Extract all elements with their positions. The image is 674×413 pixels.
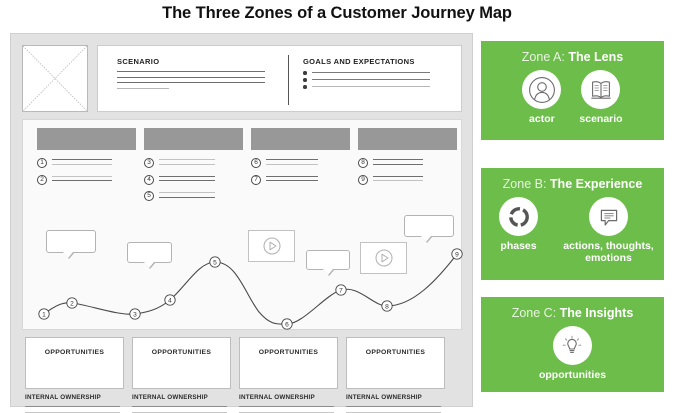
play-button-icon [374, 248, 394, 268]
item-lines [266, 158, 318, 168]
ownership-label: INTERNAL OWNERSHIP [25, 394, 124, 401]
phase-bar-1[interactable] [37, 128, 136, 150]
cycle-arrows-icon [499, 197, 538, 236]
ownership-line [239, 406, 334, 407]
zone-a-prefix: Zone A: [522, 50, 569, 64]
ownership-label: INTERNAL OWNERSHIP [132, 394, 231, 401]
ownership-label: INTERNAL OWNERSHIP [346, 394, 445, 401]
journey-map-infographic: The Three Zones of a Customer Journey Ma… [0, 0, 674, 413]
phase-bar-3[interactable] [251, 128, 350, 150]
zone-c-item-opportunities[interactable]: opportunities [539, 326, 606, 381]
opportunities-label: OPPORTUNITIES [347, 349, 444, 356]
numbered-item[interactable]: 9 [358, 175, 423, 185]
item-lines [373, 158, 423, 168]
ownership-block-1: INTERNAL OWNERSHIP [25, 394, 124, 413]
zone-b-item-actions[interactable]: actions, thoughts, emotions [560, 197, 658, 264]
zone-a-name: The Lens [568, 50, 623, 64]
item-number: 1 [37, 158, 47, 168]
item-number: 3 [144, 158, 154, 168]
ownership-line [25, 406, 120, 407]
opportunities-label: OPPORTUNITIES [26, 349, 123, 356]
numbered-item[interactable]: 7 [251, 175, 318, 185]
scenario-line [117, 77, 265, 78]
svg-text:7: 7 [339, 287, 343, 294]
opportunities-label: OPPORTUNITIES [133, 349, 230, 356]
journey-map-wireframe: SCENARIO GOALS AND EXPECTATIONS [10, 33, 473, 407]
phase-bar-4[interactable] [358, 128, 457, 150]
scenario-column: SCENARIO [98, 46, 288, 111]
numbered-list-column-2: 3 4 5 [144, 158, 215, 208]
person-avatar-icon [522, 70, 561, 109]
opportunities-box-1[interactable]: OPPORTUNITIES [25, 337, 124, 389]
zone-b-title: Zone B: The Experience [481, 168, 664, 191]
image-placeholder[interactable] [22, 45, 88, 112]
scenario-heading: SCENARIO [117, 57, 288, 66]
zone-a-item-label: actor [522, 113, 561, 125]
svg-text:4: 4 [168, 297, 172, 304]
numbered-item[interactable]: 1 [37, 158, 112, 168]
emotion-journey-curve: 1 2 3 4 5 6 7 8 9 [23, 120, 463, 331]
numbered-item[interactable]: 4 [144, 175, 215, 185]
item-number: 6 [251, 158, 261, 168]
zone-b-name: The Experience [550, 177, 642, 191]
bullet-dot-icon [303, 71, 307, 75]
item-number: 4 [144, 175, 154, 185]
svg-text:8: 8 [385, 303, 389, 310]
zone-b-prefix: Zone B: [503, 177, 550, 191]
item-number: 2 [37, 175, 47, 185]
zone-b-item-phases[interactable]: phases [488, 197, 550, 252]
numbered-list-column-1: 1 2 [37, 158, 112, 191]
callout-bubble-3[interactable] [306, 250, 350, 270]
ownership-label: INTERNAL OWNERSHIP [239, 394, 338, 401]
item-number: 8 [358, 158, 368, 168]
goals-bullet [303, 78, 463, 82]
numbered-list-column-4: 8 9 [358, 158, 423, 191]
goals-line [312, 72, 430, 73]
goals-line [312, 79, 430, 80]
goals-line [312, 86, 430, 87]
opportunities-label: OPPORTUNITIES [240, 349, 337, 356]
item-lines [52, 158, 112, 168]
zone-c-name: The Insights [560, 306, 634, 320]
goals-bullet [303, 71, 463, 75]
goals-column: GOALS AND EXPECTATIONS [298, 46, 463, 111]
item-number: 7 [251, 175, 261, 185]
ownership-block-2: INTERNAL OWNERSHIP [132, 394, 231, 413]
opportunities-box-2[interactable]: OPPORTUNITIES [132, 337, 231, 389]
zone-a-item-label: scenario [579, 113, 622, 125]
callout-bubble-2[interactable] [127, 242, 172, 263]
ownership-line [346, 406, 441, 407]
bullet-dot-icon [303, 78, 307, 82]
svg-text:2: 2 [70, 300, 74, 307]
bullet-dot-icon [303, 85, 307, 89]
opportunities-box-4[interactable]: OPPORTUNITIES [346, 337, 445, 389]
item-lines [159, 158, 215, 168]
image-placeholder-x-icon [23, 46, 87, 111]
zone-a-panel[interactable]: Zone A: The Lens actor [481, 41, 664, 140]
ownership-block-4: INTERNAL OWNERSHIP [346, 394, 445, 413]
item-lines [159, 175, 215, 185]
item-lines [52, 175, 112, 185]
open-book-icon [581, 70, 620, 109]
goals-bullet [303, 85, 463, 89]
zone-c-panel[interactable]: Zone C: The Insights [481, 297, 664, 392]
page-title: The Three Zones of a Customer Journey Ma… [0, 4, 674, 23]
panel-divider [288, 55, 289, 105]
numbered-list-column-3: 6 7 [251, 158, 318, 191]
speech-bubble-icon [589, 197, 628, 236]
numbered-item[interactable]: 2 [37, 175, 112, 185]
svg-text:3: 3 [133, 311, 137, 318]
item-lines [373, 175, 423, 185]
zone-b-items: phases actions, thoughts, emotions [481, 197, 664, 264]
callout-bubble-1[interactable] [46, 230, 96, 253]
item-number: 5 [144, 191, 154, 201]
numbered-item[interactable]: 5 [144, 191, 215, 201]
numbered-item[interactable]: 3 [144, 158, 215, 168]
zone-b-item-label: actions, thoughts, emotions [560, 240, 658, 264]
zone-a-item-actor[interactable]: actor [522, 70, 561, 125]
video-thumbnail-1[interactable] [248, 230, 295, 262]
ownership-block-3: INTERNAL OWNERSHIP [239, 394, 338, 413]
ownership-line [132, 406, 227, 407]
lightbulb-icon [553, 326, 592, 365]
play-button-icon [262, 236, 282, 256]
experience-canvas: 1 2 3 [22, 119, 462, 330]
zone-c-title: Zone C: The Insights [481, 297, 664, 320]
zone-a-items: actor scenario [481, 70, 664, 125]
scenario-line [117, 71, 265, 72]
zone-a-title: Zone A: The Lens [481, 41, 664, 64]
zone-b-panel[interactable]: Zone B: The Experience phases [481, 168, 664, 280]
scenario-line [117, 88, 169, 89]
callout-bubble-4[interactable] [404, 215, 454, 237]
goals-heading: GOALS AND EXPECTATIONS [303, 57, 463, 66]
numbered-item[interactable]: 8 [358, 158, 423, 168]
zone-b-item-label: phases [488, 240, 550, 252]
svg-text:1: 1 [42, 311, 46, 318]
svg-text:5: 5 [213, 259, 217, 266]
video-thumbnail-2[interactable] [360, 242, 407, 274]
phase-bar-2[interactable] [144, 128, 243, 150]
zone-a-item-scenario[interactable]: scenario [579, 70, 622, 125]
zone-c-items: opportunities [481, 326, 664, 381]
zone-c-prefix: Zone C: [512, 306, 560, 320]
zone-c-item-label: opportunities [539, 369, 606, 381]
scenario-line [117, 82, 265, 83]
item-number: 9 [358, 175, 368, 185]
opportunities-box-3[interactable]: OPPORTUNITIES [239, 337, 338, 389]
numbered-item[interactable]: 6 [251, 158, 318, 168]
item-lines [159, 191, 215, 201]
scenario-goals-panel: SCENARIO GOALS AND EXPECTATIONS [97, 45, 462, 112]
svg-text:6: 6 [285, 321, 289, 328]
item-lines [266, 175, 318, 185]
svg-text:9: 9 [455, 251, 459, 258]
